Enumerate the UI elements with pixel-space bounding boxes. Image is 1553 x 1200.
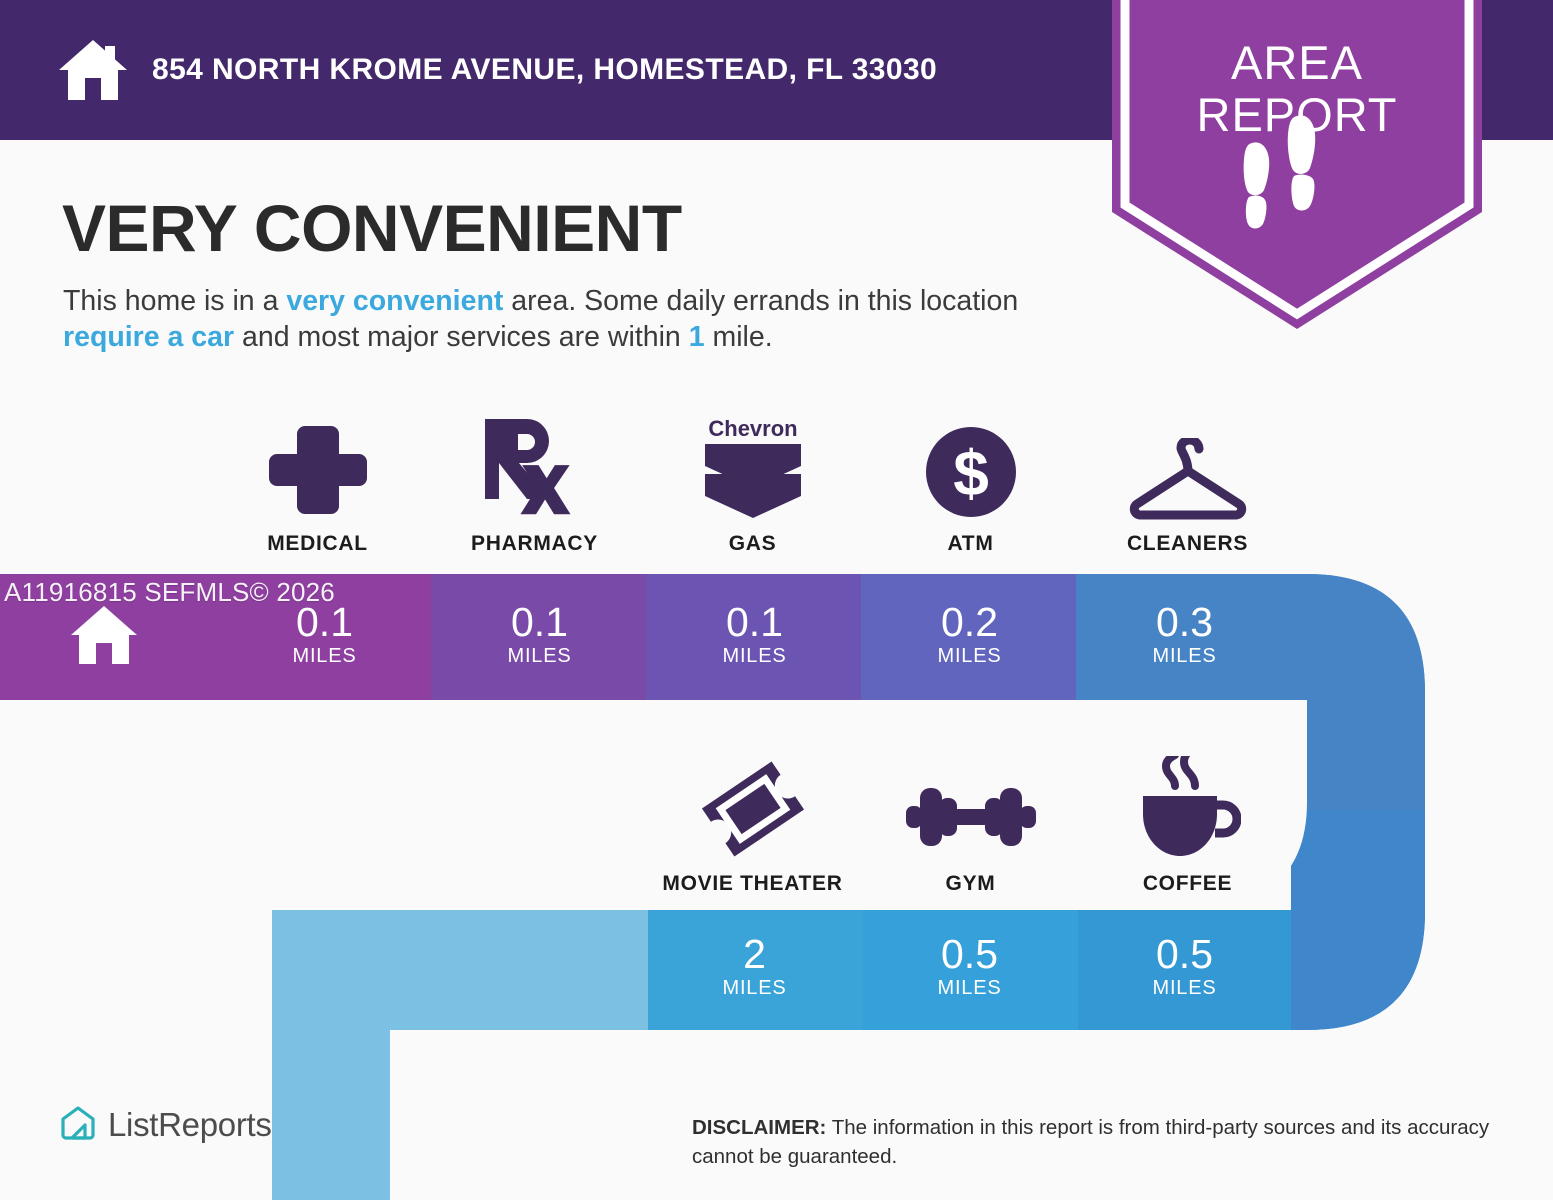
- poi-gas[interactable]: Chevron GAS: [644, 410, 861, 556]
- poi-coffee[interactable]: COFFEE: [1079, 750, 1296, 896]
- listreports-house-tag-icon: [58, 1105, 98, 1145]
- distance-unit: MILES: [216, 644, 433, 668]
- distance-value: 0.1: [431, 600, 648, 644]
- poi-medical[interactable]: MEDICAL: [209, 410, 426, 556]
- poi-label: ATM: [862, 532, 1079, 556]
- badge-line1: AREA: [1231, 36, 1363, 89]
- poi-label: MEDICAL: [209, 532, 426, 556]
- dollar-circle-icon: $: [862, 410, 1079, 520]
- disclaimer-label: DISCLAIMER:: [692, 1116, 826, 1139]
- distance-unit: MILES: [646, 644, 863, 668]
- distance-pharmacy: 0.1 MILES: [431, 600, 648, 668]
- distance-value: 0.2: [861, 600, 1078, 644]
- chevron-gas-icon: Chevron: [644, 410, 861, 520]
- distance-unit: MILES: [861, 644, 1078, 668]
- distance-movie-theater: 2 MILES: [646, 932, 863, 1000]
- poi-label: CLEANERS: [1079, 532, 1296, 556]
- svg-text:$: $: [953, 437, 989, 509]
- poi-label: MOVIE THEATER: [644, 872, 861, 896]
- disclaimer: DISCLAIMER: The information in this repo…: [692, 1113, 1492, 1171]
- distance-cleaners: 0.3 MILES: [1076, 600, 1293, 668]
- distance-atm: 0.2 MILES: [861, 600, 1078, 668]
- poi-label: PHARMACY: [426, 532, 643, 556]
- area-report-page: 854 NORTH KROME AVENUE, HOMESTEAD, FL 33…: [0, 0, 1553, 1200]
- distance-gym: 0.5 MILES: [861, 932, 1078, 1000]
- distance-value: 0.1: [646, 600, 863, 644]
- mls-watermark: A11916815 SEFMLS© 2026: [4, 577, 335, 608]
- rx-icon: [426, 410, 643, 520]
- coffee-icon: [1079, 750, 1296, 860]
- listreports-logo[interactable]: ListReports: [58, 1105, 272, 1145]
- distance-unit: MILES: [861, 976, 1078, 1000]
- brand-name: ListReports: [108, 1106, 272, 1144]
- svg-text:Chevron: Chevron: [708, 416, 797, 441]
- poi-label: GAS: [644, 532, 861, 556]
- poi-label: GYM: [862, 872, 1079, 896]
- distance-medical: 0.1 MILES: [216, 600, 433, 668]
- right-connector-lower: [1291, 810, 1425, 1030]
- bar-home-icon: [69, 604, 139, 666]
- distance-unit: MILES: [1076, 976, 1293, 1000]
- dumbbell-icon: [862, 750, 1079, 860]
- poi-movie-theater[interactable]: MOVIE THEATER: [644, 750, 861, 896]
- ticket-icon: [644, 750, 861, 860]
- distance-unit: MILES: [1076, 644, 1293, 668]
- hanger-icon: [1079, 410, 1296, 520]
- poi-gym[interactable]: GYM: [862, 750, 1079, 896]
- distance-value: 2: [646, 932, 863, 976]
- distance-value: 0.5: [861, 932, 1078, 976]
- distance-value: 0.5: [1076, 932, 1293, 976]
- distance-value: 0.3: [1076, 600, 1293, 644]
- notch-left: [390, 1030, 508, 1200]
- poi-pharmacy[interactable]: PHARMACY: [426, 410, 643, 556]
- distance-unit: MILES: [431, 644, 648, 668]
- distance-coffee: 0.5 MILES: [1076, 932, 1293, 1000]
- poi-cleaners[interactable]: CLEANERS: [1079, 410, 1296, 556]
- distance-unit: MILES: [646, 976, 863, 1000]
- distance-gas: 0.1 MILES: [646, 600, 863, 668]
- poi-label: COFFEE: [1079, 872, 1296, 896]
- poi-atm[interactable]: $ ATM: [862, 410, 1079, 556]
- area-report-badge: AREA REPORT: [1112, 0, 1482, 329]
- medical-cross-icon: [209, 410, 426, 520]
